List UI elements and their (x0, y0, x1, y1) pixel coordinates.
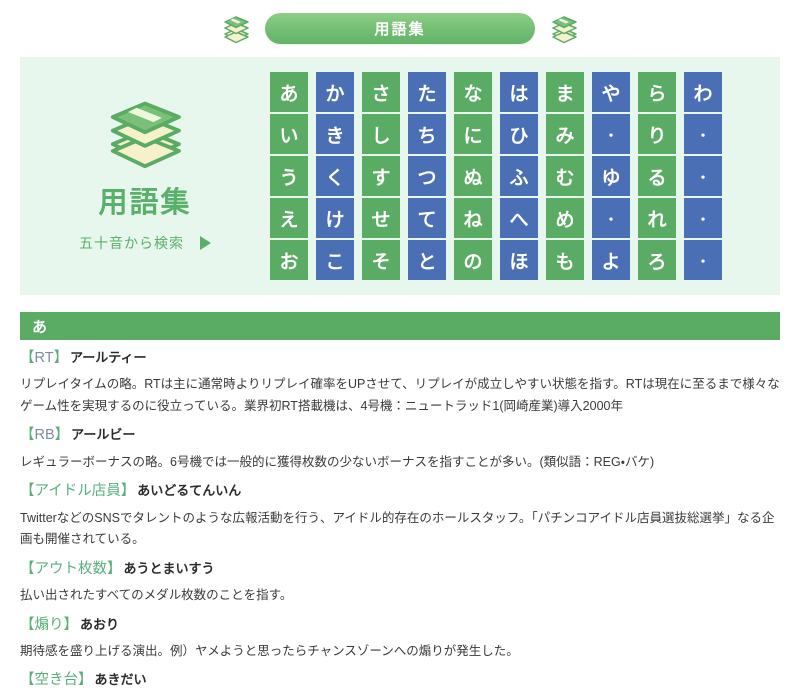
glossary-entry: 【RT】アールティーリプレイタイムの略。RTは主に通常時よりリプレイ確率をUPさ… (20, 340, 780, 417)
kana-cell-て[interactable]: て (408, 198, 446, 238)
kana-cell-ら[interactable]: ら (638, 72, 676, 112)
glossary-entry: 【アウト枚数】あうとまいすう払い出されたすべてのメダル枚数のことを指す。 (20, 551, 780, 607)
kana-column-1: あいうえお (270, 72, 308, 280)
kana-cell-ち[interactable]: ち (408, 114, 446, 154)
kana-cell-く[interactable]: く (316, 156, 354, 196)
panel-branding: 用語集 五十音から検索 (20, 95, 270, 257)
kana-cell-し[interactable]: し (362, 114, 400, 154)
kana-cell-い[interactable]: い (270, 114, 308, 154)
bracket-close: 】 (107, 561, 122, 577)
entry-term: 煽り (35, 617, 64, 633)
kana-cell-ね[interactable]: ね (454, 198, 492, 238)
kana-cell-む[interactable]: む (546, 156, 584, 196)
kana-search-link[interactable]: 五十音から検索 (79, 233, 211, 253)
glossary-content: あ 【RT】アールティーリプレイタイムの略。RTは主に通常時よりリプレイ確率をU… (0, 295, 800, 690)
kana-cell-empty: ・ (684, 114, 722, 154)
entry-description: リプレイタイムの略。RTは主に通常時よりリプレイ確率をUPさせて、リプレイが成立… (20, 374, 780, 417)
kana-column-9: らりるれろ (638, 72, 676, 280)
kana-cell-す[interactable]: す (362, 156, 400, 196)
kana-column-8: や・ゆ・よ (592, 72, 630, 280)
entry-term-line: 【RB】アールビー (20, 427, 780, 444)
entry-term: アウト枚数 (35, 561, 108, 577)
page-header: 用語集 (0, 0, 800, 57)
kana-cell-と[interactable]: と (408, 240, 446, 280)
kana-cell-え[interactable]: え (270, 198, 308, 238)
entry-term: 空き台 (35, 672, 79, 688)
bracket-open: 【 (20, 672, 35, 688)
kana-cell-や[interactable]: や (592, 72, 630, 112)
entry-reading: あうとまいすう (124, 561, 215, 576)
kana-cell-お[interactable]: お (270, 240, 308, 280)
kana-column-5: なにぬねの (454, 72, 492, 280)
entry-description: TwitterなどのSNSでタレントのような広報活動を行う、アイドル的存在のホー… (20, 508, 780, 551)
kana-cell-つ[interactable]: つ (408, 156, 446, 196)
entry-reading: あいどるてんいん (137, 483, 241, 498)
kana-cell-う[interactable]: う (270, 156, 308, 196)
kana-column-6: はひふへほ (500, 72, 538, 280)
entry-term: アイドル店員 (35, 483, 121, 499)
books-stack-icon-left (221, 12, 251, 46)
kana-column-2: かきくけこ (316, 72, 354, 280)
kana-cell-は[interactable]: は (500, 72, 538, 112)
section-label: あ (32, 316, 47, 337)
glossary-entry: 【空き台】あきだい (20, 662, 780, 689)
entry-term-line: 【アウト枚数】あうとまいすう (20, 561, 780, 578)
play-triangle-icon (200, 236, 211, 250)
glossary-entry: 【煽り】あおり期待感を盛り上げる演出。例）ヤメようと思ったらチャンスゾーンへの煽… (20, 607, 780, 663)
kana-cell-け[interactable]: け (316, 198, 354, 238)
kana-cell-ふ[interactable]: ふ (500, 156, 538, 196)
kana-cell-ぬ[interactable]: ぬ (454, 156, 492, 196)
entry-term: RT (35, 350, 54, 366)
kana-cell-り[interactable]: り (638, 114, 676, 154)
bracket-close: 】 (121, 483, 136, 499)
kana-cell-そ[interactable]: そ (362, 240, 400, 280)
bracket-open: 【 (20, 427, 35, 443)
kana-cell-ひ[interactable]: ひ (500, 114, 538, 154)
kana-cell-な[interactable]: な (454, 72, 492, 112)
entry-reading: アールティー (70, 350, 146, 365)
kana-cell-れ[interactable]: れ (638, 198, 676, 238)
kana-cell-も[interactable]: も (546, 240, 584, 280)
entry-term-line: 【RT】アールティー (20, 350, 780, 367)
entry-term-line: 【煽り】あおり (20, 617, 780, 634)
entry-reading: あおり (80, 617, 119, 632)
glossary-entry: 【RB】アールビーレギュラーボーナスの略。6号機では一般的に獲得枚数の少ないボー… (20, 417, 780, 473)
bracket-close: 】 (78, 672, 93, 688)
kana-cell-か[interactable]: か (316, 72, 354, 112)
kana-cell-へ[interactable]: へ (500, 198, 538, 238)
kana-cell-empty: ・ (684, 240, 722, 280)
page-title: 用語集 (374, 18, 425, 39)
entry-description: 期待感を盛り上げる演出。例）ヤメようと思ったらチャンスゾーンへの煽りが発生した。 (20, 641, 780, 663)
kana-cell-さ[interactable]: さ (362, 72, 400, 112)
page-title-pill[interactable]: 用語集 (265, 13, 535, 44)
books-stack-icon-right (549, 12, 579, 46)
kana-cell-ゆ[interactable]: ゆ (592, 156, 630, 196)
kana-cell-ほ[interactable]: ほ (500, 240, 538, 280)
kana-cell-empty: ・ (684, 198, 722, 238)
kana-cell-empty: ・ (592, 198, 630, 238)
kana-cell-ろ[interactable]: ろ (638, 240, 676, 280)
kana-cell-よ[interactable]: よ (592, 240, 630, 280)
bracket-close: 】 (54, 350, 69, 366)
kana-search-panel: 用語集 五十音から検索 あいうえおかきくけこさしすせそたちつてとなにぬねのはひふ… (20, 57, 780, 295)
entry-reading: あきだい (95, 672, 147, 687)
kana-column-4: たちつてと (408, 72, 446, 280)
entry-term: RB (35, 427, 55, 443)
kana-cell-た[interactable]: た (408, 72, 446, 112)
kana-cell-わ[interactable]: わ (684, 72, 722, 112)
glossary-entry: 【アイドル店員】あいどるてんいんTwitterなどのSNSでタレントのような広報… (20, 473, 780, 550)
kana-cell-せ[interactable]: せ (362, 198, 400, 238)
kana-cell-き[interactable]: き (316, 114, 354, 154)
entry-description: レギュラーボーナスの略。6号機では一般的に獲得枚数の少ないボーナスを指すことが多… (20, 452, 780, 474)
kana-cell-め[interactable]: め (546, 198, 584, 238)
entry-description: 払い出されたすべてのメダル枚数のことを指す。 (20, 585, 780, 607)
kana-search-label: 五十音から検索 (79, 233, 184, 253)
kana-column-7: まみむめも (546, 72, 584, 280)
entry-term-line: 【空き台】あきだい (20, 672, 780, 689)
kana-cell-empty: ・ (684, 156, 722, 196)
kana-cell-み[interactable]: み (546, 114, 584, 154)
kana-cell-empty: ・ (592, 114, 630, 154)
bracket-close: 】 (64, 617, 79, 633)
bracket-open: 【 (20, 350, 35, 366)
kana-cell-の[interactable]: の (454, 240, 492, 280)
kana-cell-こ[interactable]: こ (316, 240, 354, 280)
kana-grid: あいうえおかきくけこさしすせそたちつてとなにぬねのはひふへほまみむめもや・ゆ・よ… (270, 72, 732, 280)
panel-title: 用語集 (98, 179, 191, 221)
section-header-a: あ (20, 312, 780, 340)
bracket-open: 【 (20, 483, 35, 499)
bracket-open: 【 (20, 617, 35, 633)
kana-cell-あ[interactable]: あ (270, 72, 308, 112)
bracket-close: 】 (55, 427, 70, 443)
books-stack-icon-large (102, 95, 188, 173)
entry-term-line: 【アイドル店員】あいどるてんいん (20, 483, 780, 500)
kana-column-3: さしすせそ (362, 72, 400, 280)
bracket-open: 【 (20, 561, 35, 577)
kana-cell-ま[interactable]: ま (546, 72, 584, 112)
entry-list: 【RT】アールティーリプレイタイムの略。RTは主に通常時よりリプレイ確率をUPさ… (20, 340, 780, 690)
kana-cell-る[interactable]: る (638, 156, 676, 196)
entry-reading: アールビー (71, 427, 135, 442)
kana-column-10: わ・・・・ (684, 72, 722, 280)
kana-cell-に[interactable]: に (454, 114, 492, 154)
